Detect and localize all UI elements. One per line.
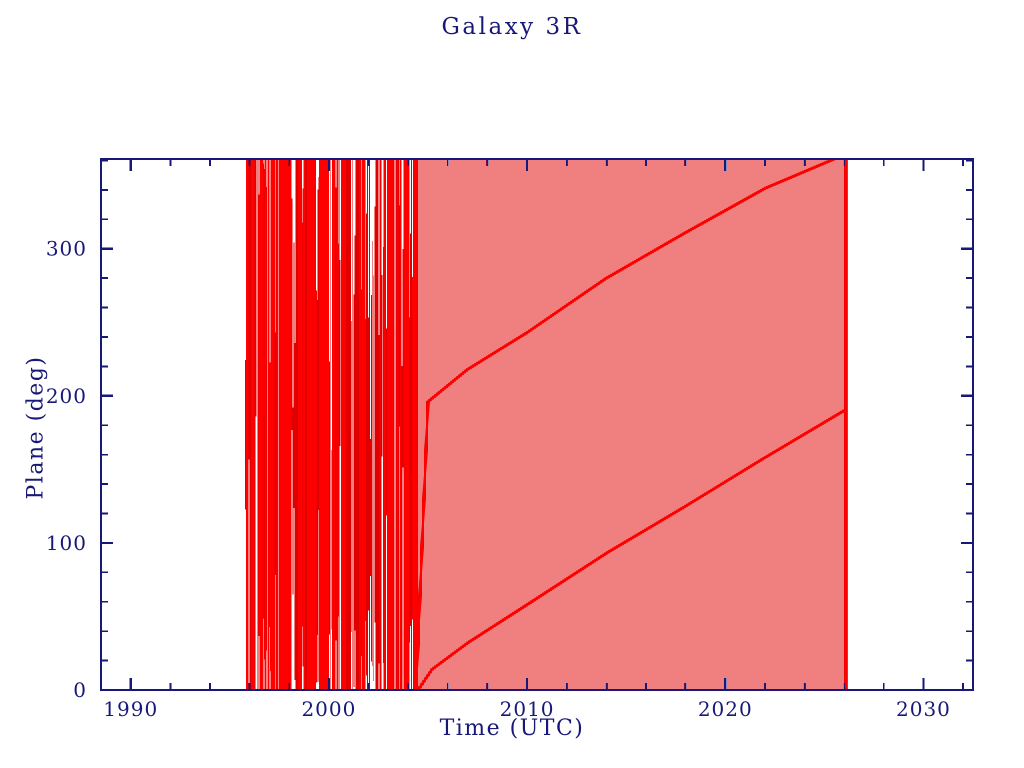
x-axis-label: Time (UTC) <box>0 716 1024 741</box>
y-tick-label: 200 <box>46 384 87 408</box>
data-series-group <box>246 159 846 690</box>
y-tick-label: 100 <box>46 531 87 555</box>
chart-svg: 199020002010202020300100200300 <box>0 0 1024 768</box>
y-axis-label: Plane (deg) <box>24 298 49 558</box>
trend-line-upper-drift-branch <box>416 159 834 690</box>
y-tick-label: 300 <box>46 237 87 261</box>
plot-canvas: Galaxy 3R 199020002010202020300100200300… <box>0 0 1024 768</box>
y-tick-label: 0 <box>73 678 87 702</box>
